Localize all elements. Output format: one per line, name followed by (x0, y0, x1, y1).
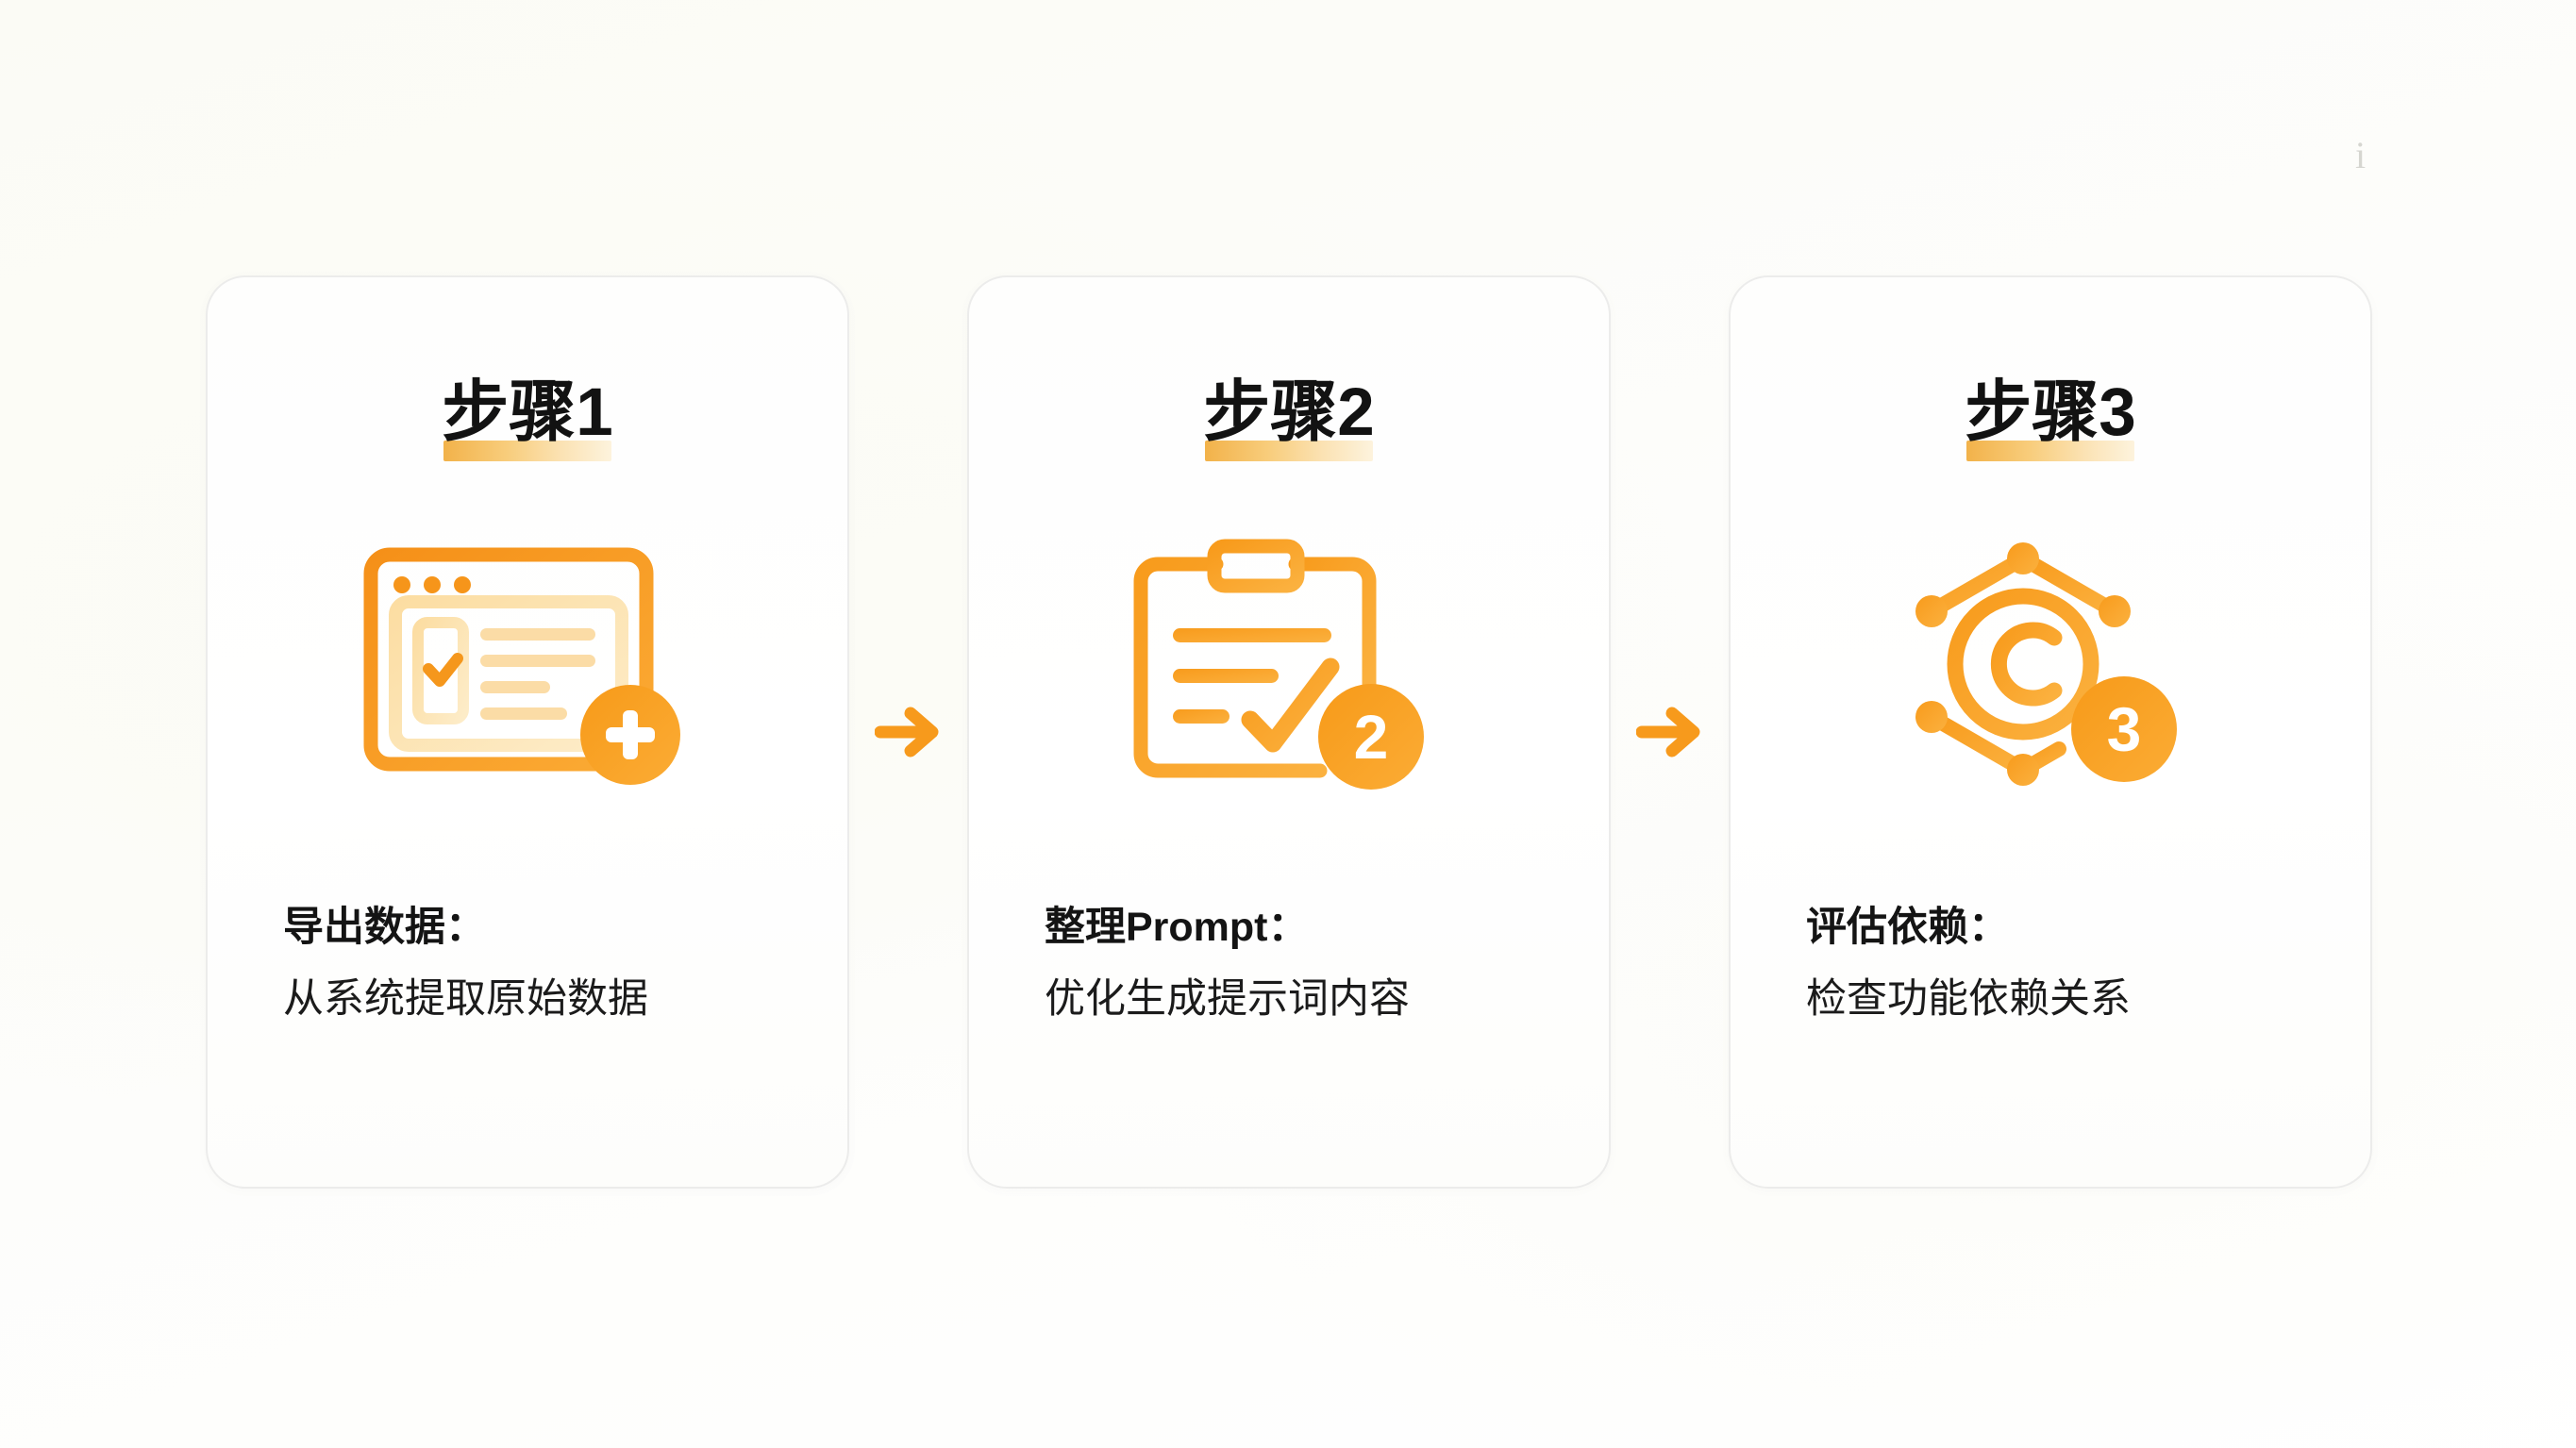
step-caption-2: 整理Prompt： 优化生成提示词内容 (969, 903, 1609, 1025)
corner-mark: i (2355, 140, 2361, 179)
clipboard-check-edit-icon: 2 (1100, 529, 1478, 812)
step-caption-title-1: 导出数据： (283, 903, 847, 954)
step-title-block-1: 步骤1 (438, 379, 617, 446)
browser-window-checklist-icon (339, 529, 716, 812)
step-title-block-3: 步骤3 (1961, 379, 2140, 446)
step-card-3[interactable]: 步骤3 (1729, 275, 2372, 1189)
step-caption-1: 导出数据： 从系统提取原始数据 (208, 903, 847, 1025)
step-caption-desc-3: 检查功能依赖关系 (1806, 974, 2370, 1025)
step-title-1: 步骤1 (442, 379, 613, 446)
hexagon-network-copyright-icon: 3 (1862, 529, 2239, 812)
step-caption-desc-1: 从系统提取原始数据 (283, 974, 847, 1025)
step-title-block-2: 步骤2 (1199, 379, 1379, 446)
step-card-1[interactable]: 步骤1 (206, 275, 849, 1189)
step-title-3: 步骤3 (1965, 379, 2136, 446)
step-title-2: 步骤2 (1203, 379, 1375, 446)
step-card-2[interactable]: 步骤2 (967, 275, 1611, 1189)
step-badge-3: 3 (2107, 694, 2142, 764)
step-flow: 步骤1 (206, 275, 2372, 1189)
step-caption-3: 评估依赖： 检查功能依赖关系 (1731, 903, 2370, 1025)
step-caption-title-2: 整理Prompt： (1045, 903, 1609, 954)
step-caption-desc-2: 优化生成提示词内容 (1045, 974, 1609, 1025)
arrow-step1-to-step2 (851, 275, 966, 1189)
arrow-step2-to-step3 (1613, 275, 1728, 1189)
step-badge-2: 2 (1354, 702, 1389, 772)
step-caption-title-3: 评估依赖： (1806, 903, 2370, 954)
